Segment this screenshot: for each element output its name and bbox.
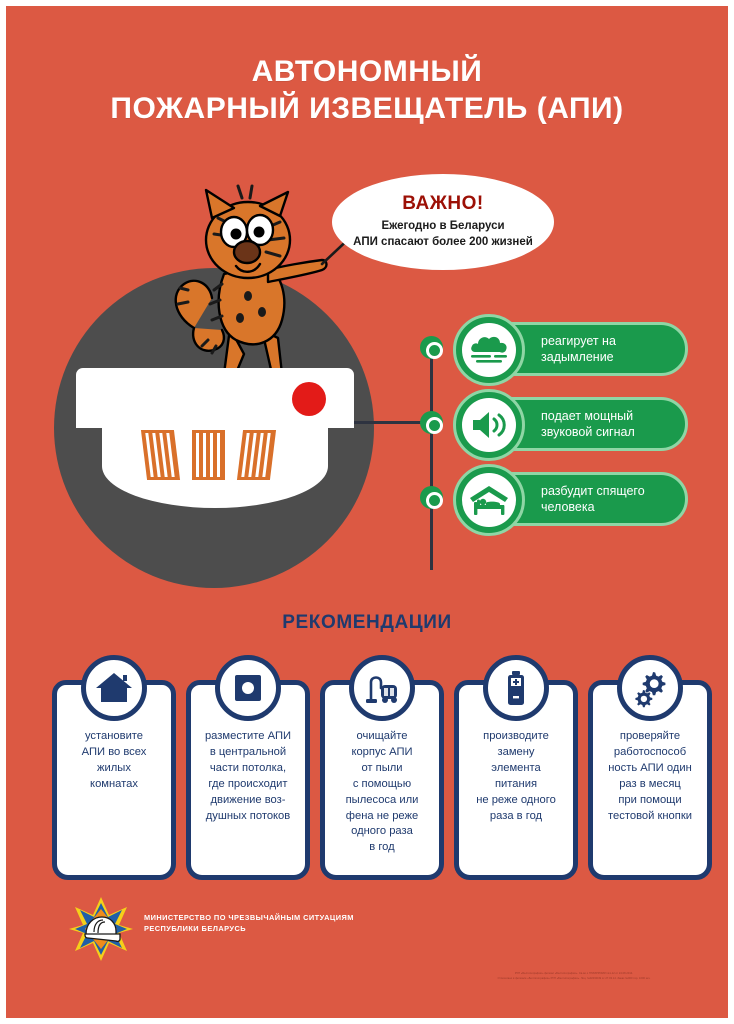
feature-badge-sound-text: подает мощный звуковой сигнал [541,400,675,448]
ministry-line-2: РЕСПУБЛИКИ БЕЛАРУСЬ [144,923,444,934]
feature-2-line-1: подает мощный [541,408,675,425]
recommendation-card-1-text: установите АПИ во всех жилых комнатах [61,729,167,793]
connector-node-1 [420,336,443,359]
feature-3-line-2: человека [541,499,675,516]
recommendation-card-2[interactable]: разместите АПИ в центральной части потол… [186,680,310,880]
recommendations-heading: РЕКОМЕНДАЦИИ [6,612,728,634]
bubble-line-2: АПИ спасают более 200 жизней [353,235,533,251]
recommendation-card-3[interactable]: очищайте корпус АПИ от пыли с помощью пы… [320,680,444,880]
poster-title: АВТОНОМНЫЙ ПОЖАРНЫЙ ИЗВЕЩАТЕЛЬ (АПИ) [6,54,728,127]
feature-badge-wake-text: разбудит спящего человека [541,475,675,523]
title-line-1: АВТОНОМНЫЙ [6,54,728,91]
house-icon [81,655,147,721]
recommendation-card-3-text: очищайте корпус АПИ от пыли с помощью пы… [329,729,435,856]
feature-1-line-1: реагирует на [541,333,675,350]
detector-vent-center [192,430,225,480]
cartoon-cat-icon [164,178,354,388]
ministry-name: МИНИСТЕРСТВО ПО ЧРЕЗВЫЧАЙНЫМ СИТУАЦИЯМ Р… [144,912,444,935]
recommendation-card-2-text: разместите АПИ в центральной части потол… [195,729,301,824]
feature-badge-smoke-text: реагирует на задымление [541,325,675,373]
important-speech-bubble: ВАЖНО! Ежегодно в Беларуси АПИ спасают б… [332,174,554,270]
hero-section: ВАЖНО! Ежегодно в Беларуси АПИ спасают б… [6,156,728,596]
recommendation-card-5-text: проверяйте работоспособ ность АПИ один р… [597,729,703,824]
vacuum-cleaner-icon [349,655,415,721]
ministry-line-1: МИНИСТЕРСТВО ПО ЧРЕЗВЫЧАЙНЫМ СИТУАЦИЯМ [144,912,444,923]
connector-node-2 [420,411,443,434]
speaker-sound-icon [453,389,525,461]
feature-2-line-2: звуковой сигнал [541,424,675,441]
bed-sleeping-icon [453,464,525,536]
bubble-line-1: Ежегодно в Беларуси [381,219,504,235]
poster-canvas: АВТОНОМНЫЙ ПОЖАРНЫЙ ИЗВЕЩАТЕЛЬ (АПИ) [6,6,728,1018]
smoke-detector-illustration [76,368,354,508]
battery-icon [483,655,549,721]
gears-icon [617,655,683,721]
feature-3-line-1: разбудит спящего [541,483,675,500]
recommendation-card-1[interactable]: установите АПИ во всех жилых комнатах [52,680,176,880]
recommendation-card-4[interactable]: производите замену элемента питания не р… [454,680,578,880]
detector-vent-left [141,430,180,480]
recommendation-card-4-text: производите замену элемента питания не р… [463,729,569,824]
recommendations-cards: установите АПИ во всех жилых комнатах ра… [28,654,708,882]
bubble-heading: ВАЖНО! [402,193,484,215]
feature-badge-sound[interactable]: подает мощный звуковой сигнал [472,397,688,451]
feature-1-line-2: задымление [541,349,675,366]
detector-square-icon [215,655,281,721]
detector-led-icon [292,382,326,416]
title-line-2: ПОЖАРНЫЙ ИЗВЕЩАТЕЛЬ (АПИ) [6,91,728,128]
detector-vent-right [237,430,276,480]
feature-badge-wake[interactable]: разбудит спящего человека [472,472,688,526]
mchs-belarus-emblem-icon [68,896,134,962]
recommendation-card-5[interactable]: проверяйте работоспособ ность АПИ один р… [588,680,712,880]
smoke-cloud-icon [453,314,525,386]
feature-badge-smoke[interactable]: реагирует на задымление [472,322,688,376]
legal-microtext: РУП «Белтипографии» филиал «Белтипографи… [426,972,722,982]
poster-footer: МИНИСТЕРСТВО ПО ЧРЕЗВЫЧАЙНЫМ СИТУАЦИЯМ Р… [6,894,728,1018]
detector-upper-body [76,368,354,428]
connector-vertical [430,346,433,570]
connector-node-3 [420,486,443,509]
